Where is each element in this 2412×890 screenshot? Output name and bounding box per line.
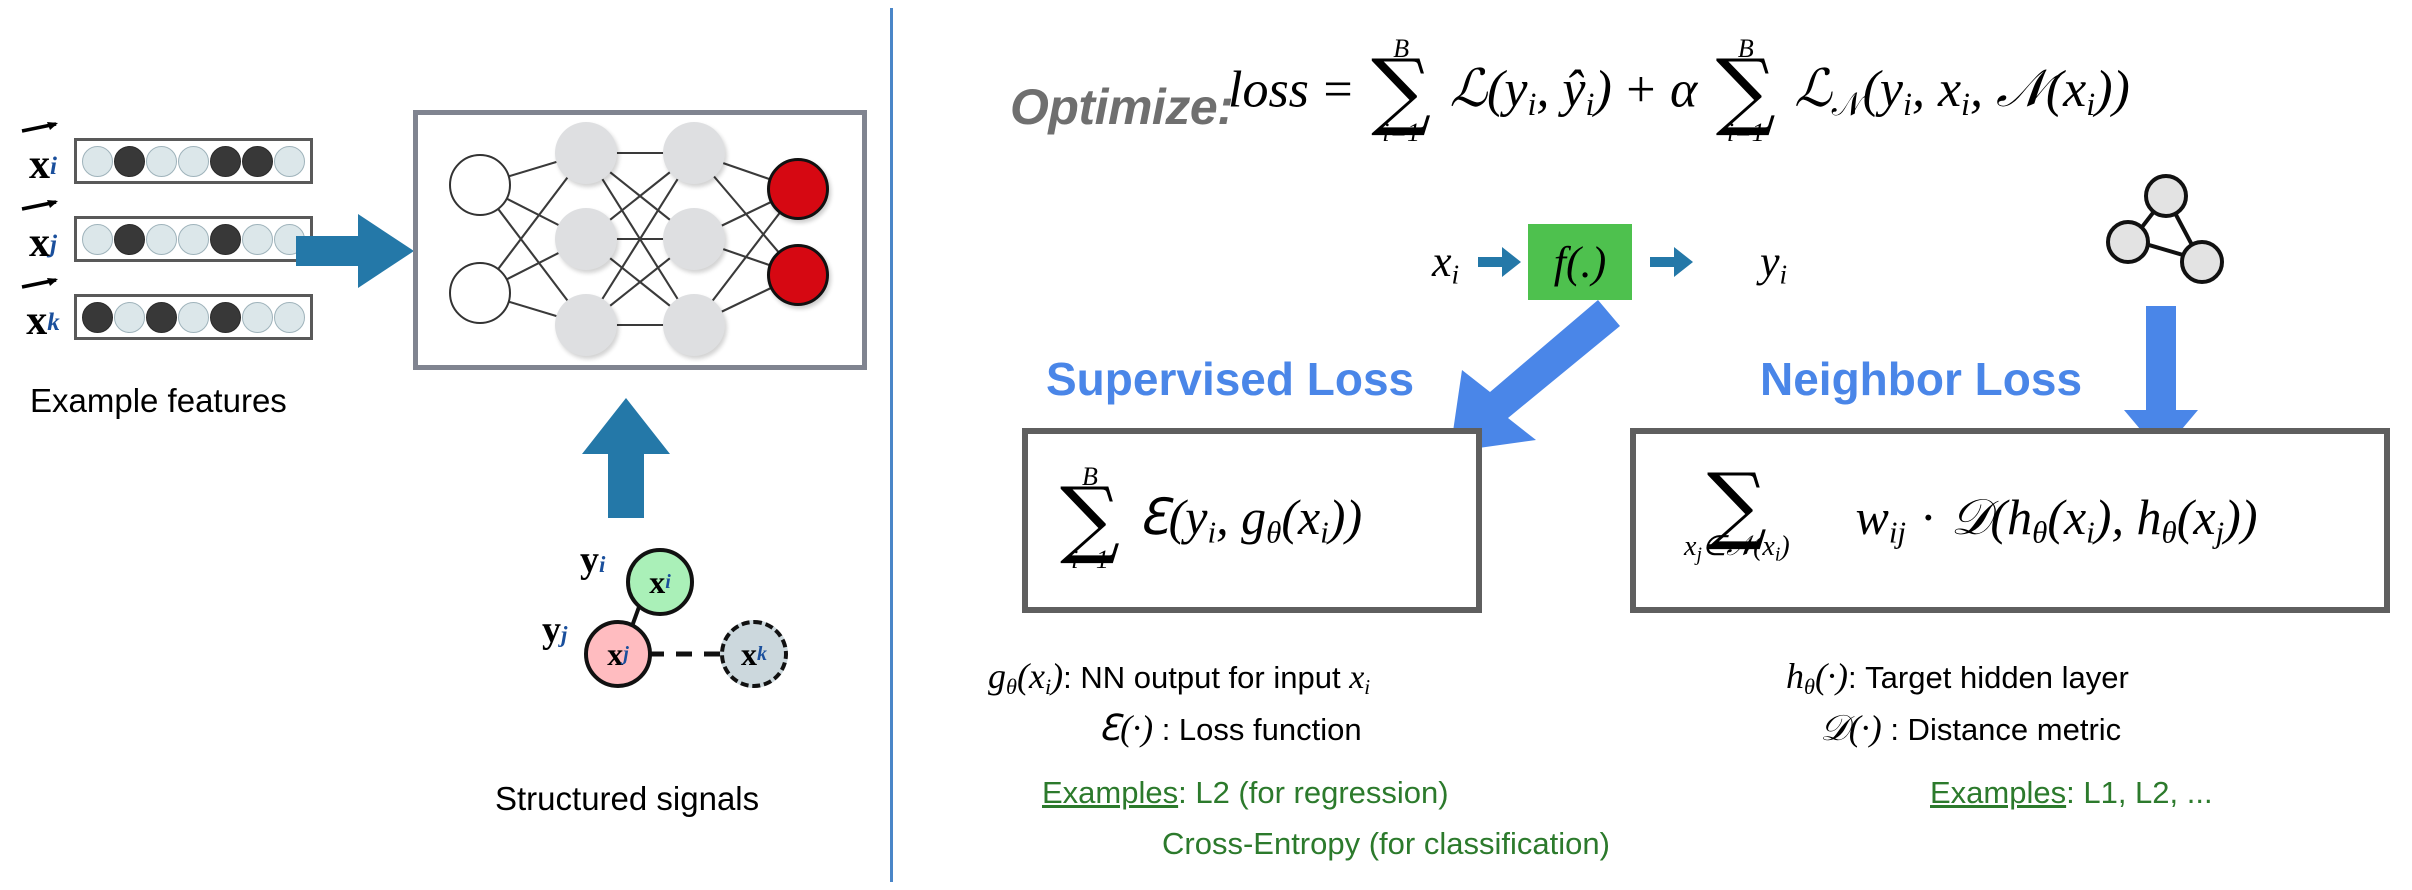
feature-cell <box>178 146 209 177</box>
equals-sign: = <box>1323 61 1352 118</box>
function-box-label: f(.) <box>1554 237 1607 288</box>
graph-node-xk: xk <box>720 620 788 688</box>
sum-lower-limit: i=1 <box>1382 120 1420 146</box>
network-node-hidden <box>663 294 725 356</box>
function-box: f(.) <box>1528 224 1632 300</box>
graph-node-xj: xj <box>584 620 652 688</box>
neighbor-loss-term: ℒ𝒩(yi, xi, 𝒩(xi)) <box>1794 61 2130 118</box>
loss-function-expression: ℇ(yi, gθ(xi)) <box>1138 489 1362 545</box>
feature-cell <box>178 224 209 255</box>
supervised-examples-line-2: Cross-Entropy (for classification) <box>1162 826 1610 862</box>
neighbor-examples-line-1: Examples: L1, L2, ... <box>1930 775 2213 811</box>
network-node-input <box>449 154 511 216</box>
summation: ∑ xj∈𝒩(xi) <box>1684 472 1790 566</box>
feature-vector-box <box>74 294 313 340</box>
supervised-loss-term: ℒ(yi, ŷi) <box>1450 61 1612 118</box>
sigma-icon: ∑ <box>1707 472 1767 538</box>
sum-lower-limit: i=1 <box>1727 120 1765 146</box>
feature-cell <box>146 224 177 255</box>
summation: B ∑ i=1 <box>1060 464 1120 574</box>
feature-vector-symbol: x <box>29 220 50 266</box>
plus-sign: + <box>1626 61 1655 118</box>
panel-divider <box>890 8 893 882</box>
network-node-hidden <box>555 122 617 184</box>
feature-vector-row: xk <box>12 294 313 340</box>
feature-vector-box <box>74 216 313 262</box>
feature-vector-subscript: i <box>50 153 57 180</box>
flow-arrow-right-icon <box>1650 246 1694 278</box>
weight-term: wij <box>1855 489 1906 545</box>
feature-vector-subscript: k <box>47 309 60 336</box>
main-loss-formula: loss = B ∑ i=1 ℒ(yi, ŷi) + α B ∑ i=1 ℒ𝒩(… <box>1228 38 2130 148</box>
examples-label: Examples <box>1042 775 1178 810</box>
feature-cell <box>114 146 145 177</box>
feature-cell <box>210 302 241 333</box>
feature-cell <box>242 302 273 333</box>
feature-cell <box>274 146 305 177</box>
neighbor-loss-box: ∑ xj∈𝒩(xi) wij · 𝒟(hθ(xi), hθ(xj)) <box>1630 428 2390 613</box>
feature-cell <box>82 146 113 177</box>
supervised-loss-heading: Supervised Loss <box>1046 352 1414 406</box>
network-node-hidden <box>663 208 725 270</box>
feature-vector-symbol: x <box>26 298 47 344</box>
neighbor-loss-heading: Neighbor Loss <box>1760 352 2082 406</box>
feature-cell <box>114 302 145 333</box>
feature-cell <box>178 302 209 333</box>
feature-vector-label: xk <box>12 296 74 338</box>
neighbor-legend-line-1: hθ(·): Target hidden layer <box>1786 655 2129 700</box>
vector-arrow-icon <box>20 198 60 213</box>
feature-cell <box>146 302 177 333</box>
feature-cell <box>242 146 273 177</box>
alpha-coefficient: α <box>1670 61 1697 118</box>
features-to-network-arrow-icon <box>296 210 416 292</box>
triangle-graph-icon <box>2098 168 2228 288</box>
network-node-output <box>767 158 829 220</box>
flow-arrow-right-icon <box>1478 246 1522 278</box>
summation-2: B ∑ i=1 <box>1716 36 1776 146</box>
distance-expression: 𝒟(hθ(xi), hθ(xj)) <box>1951 489 2258 545</box>
example-features-caption: Example features <box>30 382 287 420</box>
network-node-input <box>449 262 511 324</box>
neighbor-loss-formula: ∑ xj∈𝒩(xi) wij · 𝒟(hθ(xi), hθ(xj)) <box>1636 474 2257 568</box>
feature-vector-box <box>74 138 313 184</box>
sigma-icon: ∑ <box>1060 486 1120 552</box>
supervised-legend-line-2: ℇ(·) : Loss function <box>1098 707 1362 749</box>
optimize-label: Optimize: <box>1010 78 1233 136</box>
sigma-icon: ∑ <box>1371 58 1431 124</box>
feature-cell <box>82 302 113 333</box>
network-node-hidden <box>663 122 725 184</box>
loss-term: loss <box>1228 61 1309 118</box>
feature-cell <box>82 224 113 255</box>
feature-vector-subscript: j <box>50 231 57 258</box>
network-node-output <box>767 244 829 306</box>
vector-arrow-icon <box>20 276 60 291</box>
neighbor-legend-line-2: 𝒟(·) : Distance metric <box>1820 707 2121 750</box>
feature-cell <box>210 224 241 255</box>
sum-lower-limit: xj∈𝒩(xi) <box>1684 533 1790 565</box>
supervised-loss-formula: B ∑ i=1 ℇ(yi, gθ(xi)) <box>1028 466 1362 576</box>
feature-vector-row: xi <box>12 138 313 184</box>
feature-vector-label: xj <box>12 218 74 260</box>
feature-cell <box>114 224 145 255</box>
feature-cell <box>210 146 241 177</box>
feature-cell <box>242 224 273 255</box>
signals-to-network-arrow-icon <box>580 398 672 520</box>
feature-cell <box>146 146 177 177</box>
dot-operator: · <box>1920 489 1937 545</box>
feature-cell <box>274 302 305 333</box>
graph-node-label-yi: yi <box>580 538 605 582</box>
flow-input-variable: xi <box>1432 236 1459 291</box>
supervised-legend-line-1: gθ(xi): NN output for input xi <box>988 655 1370 700</box>
graph-node-xi: xi <box>626 548 694 616</box>
neural-network-box <box>413 110 867 370</box>
graph-node-label-yj: yj <box>542 608 567 652</box>
sum-lower-limit: i=1 <box>1071 547 1109 573</box>
feature-vector-symbol: x <box>29 142 50 188</box>
feature-vector-label: xi <box>12 140 74 182</box>
summation-1: B ∑ i=1 <box>1371 36 1431 146</box>
network-node-hidden <box>555 208 617 270</box>
supervised-loss-box: B ∑ i=1 ℇ(yi, gθ(xi)) <box>1022 428 1482 613</box>
supervised-examples-line-1: Examples: L2 (for regression) <box>1042 775 1449 811</box>
structured-signals-caption: Structured signals <box>495 780 759 818</box>
flow-output-variable: yi <box>1760 236 1787 291</box>
examples-label: Examples <box>1930 775 2066 810</box>
feature-vector-row: xj <box>12 216 313 262</box>
sigma-icon: ∑ <box>1716 58 1776 124</box>
structured-signals-graph: yi xi yj xj xk <box>500 520 830 770</box>
network-node-hidden <box>555 294 617 356</box>
network-edges <box>418 115 862 365</box>
vector-arrow-icon <box>20 120 60 135</box>
